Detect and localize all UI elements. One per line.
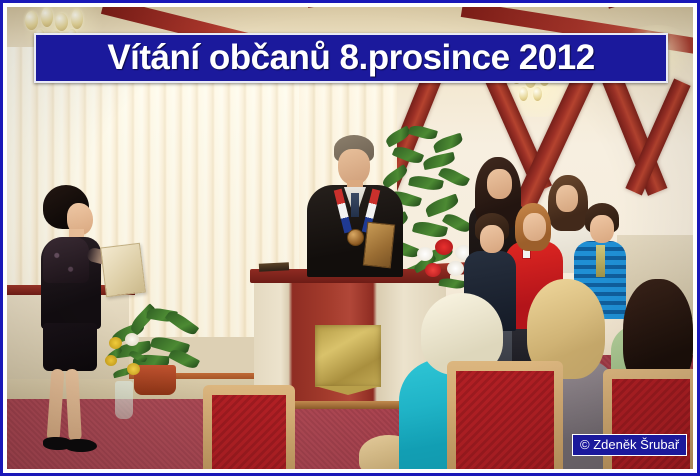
boy-navy-face (480, 225, 504, 253)
speaker-woman-skirt (43, 323, 97, 371)
boy-blue-tie (596, 245, 605, 277)
mother-face (487, 169, 512, 199)
title-text: Vítání občanů 8.prosince 2012 (107, 38, 594, 78)
girl-red-face (523, 213, 546, 241)
speaker-woman-shoe (65, 439, 97, 452)
mayor-tie (351, 193, 359, 217)
chair (203, 385, 295, 469)
copyright-badge: © Zdeněk Šrubař (572, 434, 687, 456)
boy-blue-face (590, 215, 614, 243)
flower-vase (103, 333, 149, 421)
photo-frame: Vítání občanů 8.prosince 2012 © Zdeněk Š… (0, 0, 700, 476)
podium-emblem (315, 325, 381, 387)
girl-white-face (556, 185, 578, 212)
chair (447, 361, 563, 469)
title-banner: Vítání občanů 8.prosince 2012 (34, 33, 668, 83)
mayor-book (363, 222, 395, 269)
small-book (259, 262, 289, 272)
speaker-woman-lace-top (43, 237, 89, 283)
mayor-medallion (347, 229, 364, 246)
ceremony-folder (100, 243, 146, 298)
ceremony-photograph: Vítání občanů 8.prosince 2012 © Zdeněk Š… (7, 7, 693, 469)
